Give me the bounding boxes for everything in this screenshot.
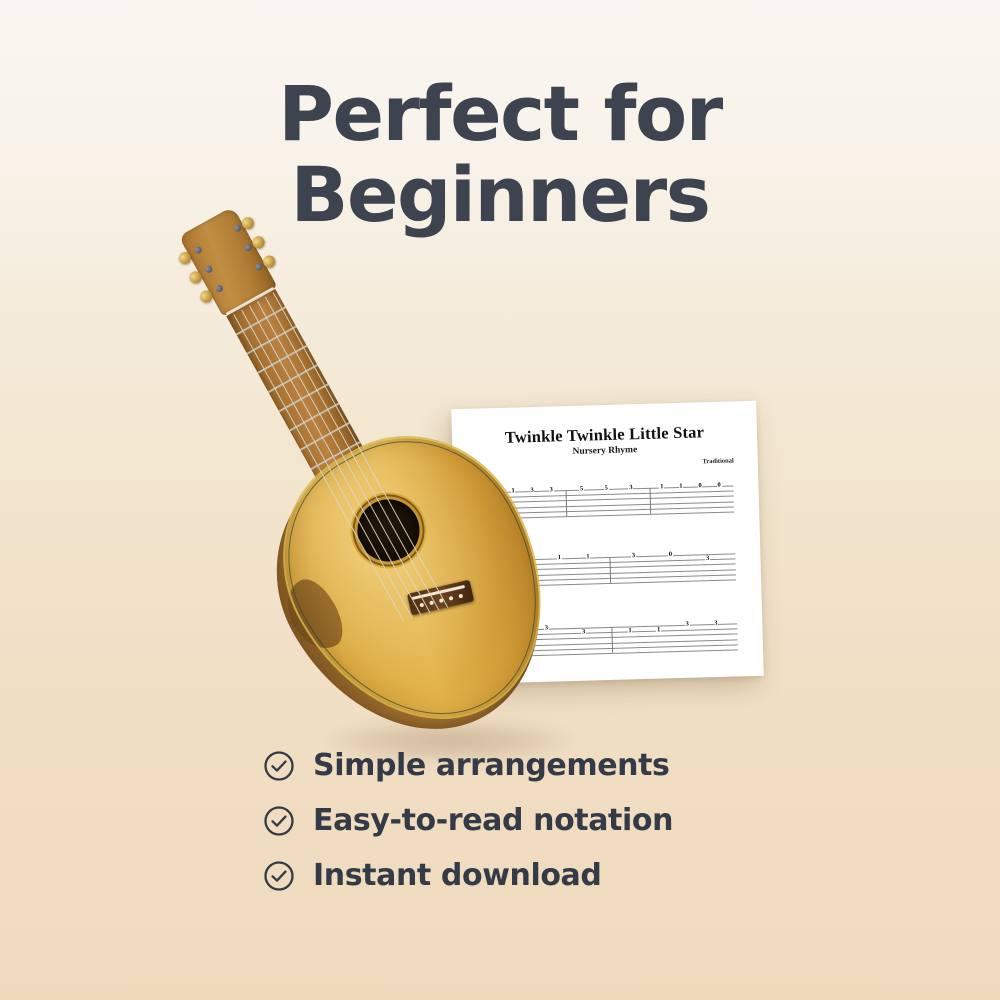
feature-list: Simple arrangements Easy-to-read notatio… bbox=[263, 748, 823, 913]
list-item: Easy-to-read notation bbox=[263, 803, 823, 838]
check-circle-icon bbox=[263, 750, 295, 782]
list-item: Instant download bbox=[263, 858, 823, 893]
guitar-body-group bbox=[3, 96, 700, 840]
tab-note: 0 bbox=[717, 483, 722, 490]
tab-note: 0 bbox=[698, 483, 703, 490]
tab-note: 1 bbox=[659, 484, 664, 491]
feature-label: Simple arrangements bbox=[313, 748, 670, 783]
tab-note: 3 bbox=[685, 621, 690, 628]
feature-label: Instant download bbox=[313, 858, 601, 893]
check-circle-icon bbox=[263, 805, 295, 837]
list-item: Simple arrangements bbox=[263, 748, 823, 783]
tab-note: 3 bbox=[713, 621, 718, 628]
headline-line-1: Perfect for bbox=[0, 78, 1000, 151]
barline bbox=[649, 488, 651, 514]
hero-product-image: Twinkle Twinkle Little Star Nursery Rhym… bbox=[0, 150, 1000, 750]
sheet-music-composer: Traditional bbox=[702, 457, 733, 465]
promo-card: Perfect for Beginners Twinkle Twinkle Li… bbox=[0, 0, 1000, 1000]
guitar-illustration bbox=[150, 160, 620, 750]
bridge-pin bbox=[449, 596, 454, 601]
bridge-pin bbox=[458, 594, 463, 599]
check-circle-icon bbox=[263, 860, 295, 892]
tab-note: 1 bbox=[678, 484, 683, 491]
tab-note: 3 bbox=[705, 556, 710, 563]
feature-label: Easy-to-read notation bbox=[313, 803, 673, 838]
